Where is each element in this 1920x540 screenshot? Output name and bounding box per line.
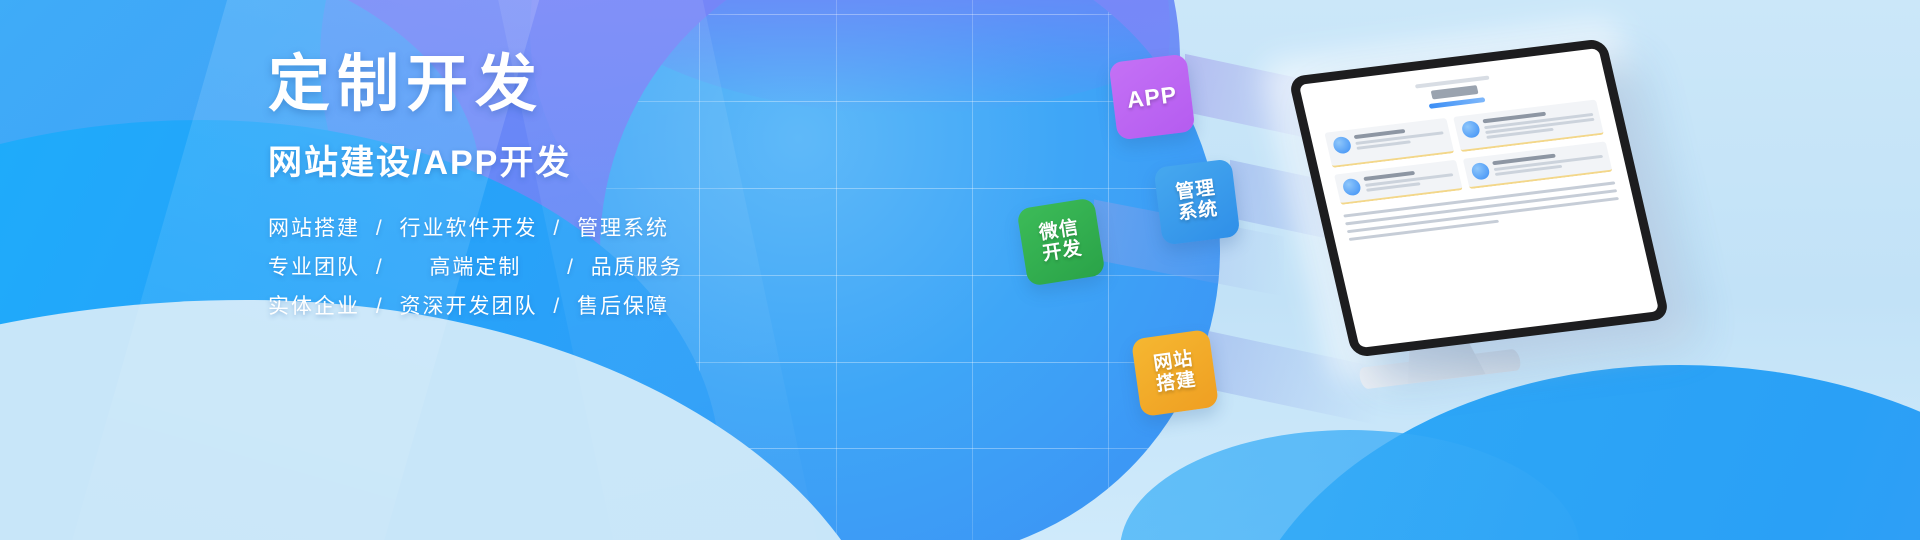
service-card-management[interactable]: 管理 系统 <box>1154 159 1241 246</box>
screen-feature-card <box>1324 118 1453 168</box>
feature-separator: / <box>545 217 569 240</box>
feature-list: 网站搭建 / 行业软件开发 / 管理系统 专业团队 / 高端定制 / 品质服务 … <box>268 218 788 317</box>
feature-line: 实体企业 / 资深开发团队 / 售后保障 <box>268 296 788 317</box>
promo-banner: 定制开发 网站建设/APP开发 网站搭建 / 行业软件开发 / 管理系统 专业团… <box>0 0 1920 540</box>
feature-separator: / <box>368 295 392 318</box>
service-card-app-label: APP <box>1125 81 1178 114</box>
feature-line: 网站搭建 / 行业软件开发 / 管理系统 <box>268 218 788 239</box>
feature-item: 管理系统 <box>577 217 669 240</box>
feature-line: 专业团队 / 高端定制 / 品质服务 <box>268 257 788 278</box>
monitor-illustration <box>1290 40 1710 470</box>
feature-item: 专业团队 <box>268 256 360 279</box>
screen-feature-icon <box>1470 162 1491 181</box>
service-card-app[interactable]: APP <box>1109 54 1196 141</box>
service-card-website-line2: 搭建 <box>1155 370 1197 396</box>
feature-separator: / <box>545 295 569 318</box>
feature-separator: / <box>559 256 583 279</box>
screen-feature-icon <box>1341 178 1362 197</box>
service-card-management-line2: 系统 <box>1177 200 1219 225</box>
feature-item: 品质服务 <box>591 256 683 279</box>
headline-block: 定制开发 网站建设/APP开发 网站搭建 / 行业软件开发 / 管理系统 专业团… <box>268 52 788 335</box>
service-card-wechat-line2: 开发 <box>1041 239 1084 266</box>
feature-item: 高端定制 <box>429 256 521 279</box>
page-subtitle: 网站建设/APP开发 <box>268 135 788 184</box>
feature-separator: / <box>368 256 392 279</box>
feature-separator: / <box>368 217 392 240</box>
page-title: 定制开发 <box>268 52 788 117</box>
feature-item: 实体企业 <box>268 295 360 318</box>
feature-item: 行业软件开发 <box>400 217 538 240</box>
service-card-wechat[interactable]: 微信 开发 <box>1016 197 1105 286</box>
screen-feature-icon <box>1332 136 1353 155</box>
screen-feature-icon <box>1460 120 1481 139</box>
monitor-screen <box>1299 48 1659 348</box>
screen-feature-card <box>1334 160 1462 205</box>
monitor-bezel <box>1288 38 1670 358</box>
screen-eyebrow <box>1415 76 1490 89</box>
feature-item: 网站搭建 <box>268 217 360 240</box>
service-card-website[interactable]: 网站 搭建 <box>1131 329 1219 417</box>
screen-heading <box>1431 85 1479 99</box>
feature-item: 资深开发团队 <box>400 295 538 318</box>
feature-item: 售后保障 <box>577 295 669 318</box>
